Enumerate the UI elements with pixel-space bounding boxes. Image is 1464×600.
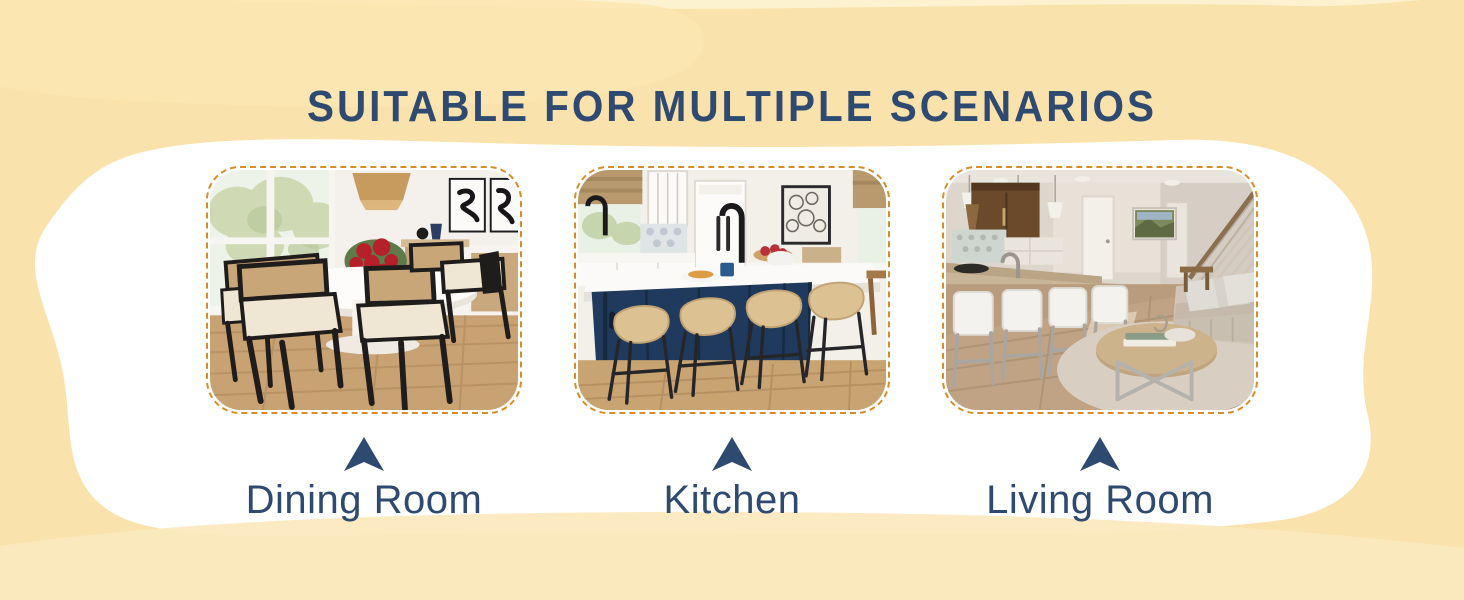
scenario-card-list: Dining Room <box>0 166 1464 522</box>
scenario-label-dining-room: Dining Room <box>246 478 483 522</box>
page-title: SUITABLE FOR MULTIPLE SCENARIOS <box>59 82 1406 132</box>
dining-room-photo <box>210 170 518 410</box>
scenario-label-living-room: Living Room <box>986 478 1214 522</box>
dining-room-illustration <box>210 170 518 410</box>
caret-up-icon <box>1078 436 1122 472</box>
dining-room-photo-frame[interactable] <box>206 166 522 414</box>
scenario-card-kitchen[interactable]: Kitchen <box>574 166 890 522</box>
kitchen-photo-frame[interactable] <box>574 166 890 414</box>
living-room-illustration <box>946 170 1254 410</box>
scenarios-banner: SUITABLE FOR MULTIPLE SCENARIOS <box>0 0 1464 600</box>
scenario-card-dining-room[interactable]: Dining Room <box>206 166 522 522</box>
kitchen-illustration <box>578 170 886 410</box>
kitchen-photo <box>578 170 886 410</box>
scenario-label-kitchen: Kitchen <box>664 478 801 522</box>
caret-up-icon <box>710 436 754 472</box>
scenario-card-living-room[interactable]: Living Room <box>942 166 1258 522</box>
living-room-photo-frame[interactable] <box>942 166 1258 414</box>
caret-up-icon <box>342 436 386 472</box>
living-room-photo <box>946 170 1254 410</box>
